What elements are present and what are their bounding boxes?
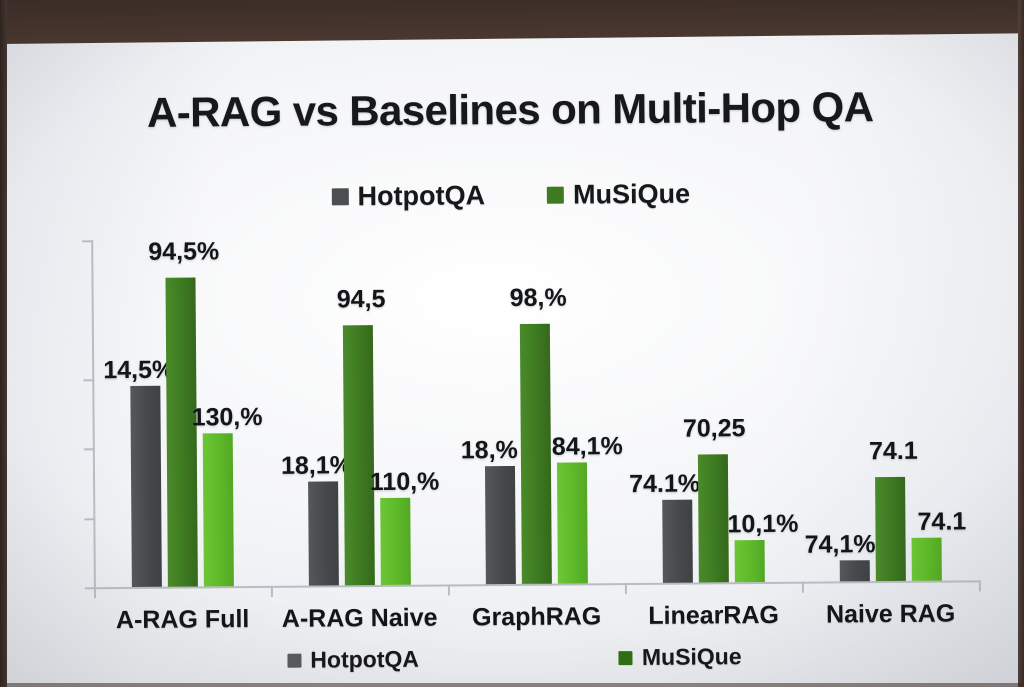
- x-axis-separator: [802, 582, 804, 593]
- legend-bottom-swatch-hotpotqa: [287, 653, 301, 667]
- legend-swatch-musique: [547, 187, 564, 204]
- x-axis-category-label: LinearRAG: [625, 601, 802, 631]
- chart-legend-top: HotpotQA MuSiQue: [0, 176, 1023, 215]
- legend-label-musique: MuSiQue: [573, 179, 690, 211]
- legend-label-hotpotqa: HotpotQA: [357, 180, 485, 212]
- bar-value-label: 74.1: [917, 507, 966, 536]
- chart-legend-bottom: HotpotQA MuSiQue: [2, 641, 1024, 676]
- x-axis-separator: [979, 580, 981, 591]
- x-axis-separator: [94, 587, 96, 598]
- x-axis-category-label: Naive RAG: [802, 599, 979, 629]
- legend-bottom-swatch-musique: [619, 651, 633, 665]
- legend-bottom-label-musique: MuSiQue: [642, 643, 742, 671]
- bar-value-label: 74.1: [869, 437, 918, 466]
- bar-group: 74,1%74.174.1: [91, 233, 979, 587]
- legend-bottom-item-hotpotqa: HotpotQA: [287, 646, 419, 674]
- legend-swatch-hotpotqa: [332, 188, 349, 205]
- chart-title: A-RAG vs Baselines on Multi-Hop QA: [0, 82, 1022, 138]
- bar[interactable]: [911, 537, 941, 581]
- slide-photo-screenshot: A-RAG vs Baselines on Multi-Hop QA Hotpo…: [0, 0, 1024, 687]
- bar[interactable]: [875, 477, 906, 581]
- x-axis-category-label: GraphRAG: [448, 602, 625, 632]
- x-axis-separator: [625, 583, 627, 594]
- x-axis-category-label: A-RAG Full: [94, 605, 271, 635]
- x-axis-category-label: A-RAG Naive: [271, 604, 448, 634]
- legend-item-hotpotqa: HotpotQA: [331, 180, 485, 212]
- bar[interactable]: [839, 560, 869, 581]
- plot-area: 100%60%40%20%0% 14,5%94,5%130,%18,1%94,5…: [91, 233, 979, 587]
- legend-bottom-item-musique: MuSiQue: [619, 643, 742, 671]
- x-axis-separator: [448, 584, 450, 595]
- slide-content: A-RAG vs Baselines on Multi-Hop QA Hotpo…: [0, 0, 1024, 687]
- legend-bottom-label-hotpotqa: HotpotQA: [310, 646, 419, 674]
- legend-item-musique: MuSiQue: [547, 179, 690, 211]
- x-axis-separator: [271, 586, 273, 597]
- bar-value-label: 74,1%: [805, 530, 876, 560]
- bars-layer: 14,5%94,5%130,%18,1%94,5110,%18,%98,%84,…: [91, 233, 976, 240]
